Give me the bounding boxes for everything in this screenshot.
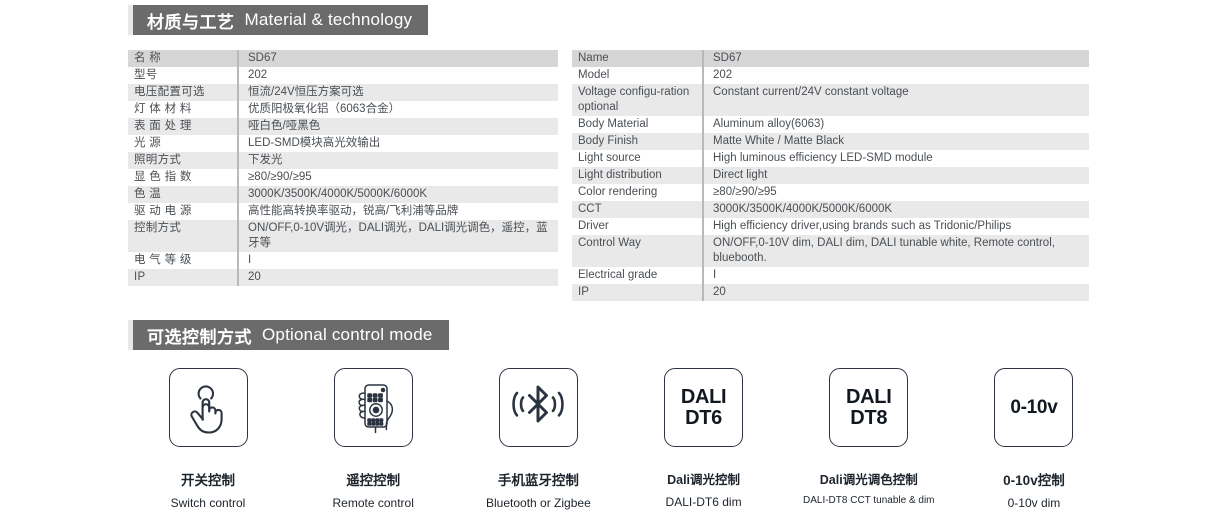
spec-label: IP (128, 269, 238, 286)
dali-dt8-icon[interactable]: DALIDT8 (829, 368, 908, 447)
table-row: CCT3000K/3500K/4000K/5000K/6000K (572, 201, 1089, 218)
spec-table-english: NameSD67Model202Voltage configu-ration o… (572, 50, 1089, 301)
table-row: Control WayON/OFF,0-10V dim, DALI dim, D… (572, 235, 1089, 267)
section-header-control-mode: 可选控制方式 Optional control mode (128, 320, 449, 350)
control-mode-label-en: Remote control (333, 496, 414, 510)
spec-value: ON/OFF,0-10V调光，DALI调光，DALI调光调色，遥控，蓝牙等 (238, 220, 558, 252)
spec-label: 灯 体 材 料 (128, 101, 238, 118)
control-mode-label-en: DALI-DT6 dim (666, 495, 742, 509)
spec-label: 照明方式 (128, 152, 238, 169)
bluetooth-wave-icon[interactable] (499, 368, 578, 447)
control-mode-item[interactable]: 0-10v0-10v控制0-10v dim (954, 368, 1114, 510)
spec-table-chinese: 名 称SD67型号202电压配置可选恒流/24V恒压方案可选灯 体 材 料优质阳… (128, 50, 558, 286)
spec-label: 控制方式 (128, 220, 238, 252)
spec-value: ON/OFF,0-10V dim, DALI dim, DALI tunable… (703, 235, 1089, 267)
table-row: 色 温3000K/3500K/4000K/5000K/6000K (128, 186, 558, 203)
spec-value: 3000K/3500K/4000K/5000K/6000K (703, 201, 1089, 218)
spec-value: SD67 (703, 50, 1089, 67)
icon-glyph-text: 0-10v (1010, 398, 1057, 417)
table-row: Light distributionDirect light (572, 167, 1089, 184)
spec-label: Electrical grade (572, 267, 703, 284)
spec-value: Matte White / Matte Black (703, 133, 1089, 150)
spec-label: Color rendering (572, 184, 703, 201)
icon-glyph-text: DALIDT6 (681, 387, 726, 428)
spec-label: 表 面 处 理 (128, 118, 238, 135)
spec-label: 色 温 (128, 186, 238, 203)
table-row: IP20 (128, 269, 558, 286)
spec-label: 名 称 (128, 50, 238, 67)
table-row: Body FinishMatte White / Matte Black (572, 133, 1089, 150)
table-row: NameSD67 (572, 50, 1089, 67)
section-header-control-mode-en: Optional control mode (262, 325, 433, 345)
table-row: 灯 体 材 料优质阳极氧化铝（6063合金） (128, 101, 558, 118)
spec-value: ≥80/≥90/≥95 (238, 169, 558, 186)
spec-value: 3000K/3500K/4000K/5000K/6000K (238, 186, 558, 203)
table-row: 型号202 (128, 67, 558, 84)
control-mode-label-cn: Dali调光调色控制 (820, 469, 918, 488)
section-header-material-en: Material & technology (245, 10, 413, 30)
spec-value: 202 (703, 67, 1089, 84)
spec-label: Light distribution (572, 167, 703, 184)
spec-value: 优质阳极氧化铝（6063合金） (238, 101, 558, 118)
spec-value: 高性能高转换率驱动，锐高/飞利浦等品牌 (238, 203, 558, 220)
spec-value: Aluminum alloy(6063) (703, 116, 1089, 133)
spec-value: 20 (703, 284, 1089, 301)
control-mode-item[interactable]: DALIDT8Dali调光调色控制DALI-DT8 CCT tunable & … (789, 368, 949, 506)
spec-label: 电压配置可选 (128, 84, 238, 101)
spec-label: Light source (572, 150, 703, 167)
table-row: 表 面 处 理哑白色/哑黑色 (128, 118, 558, 135)
control-mode-label-cn: 遥控控制 (346, 469, 400, 489)
icon-glyph-text: DALIDT8 (846, 387, 891, 428)
spec-value: High luminous efficiency LED-SMD module (703, 150, 1089, 167)
spec-value: Constant current/24V constant voltage (703, 84, 1089, 116)
table-row: 光 源LED-SMD模块高光效输出 (128, 135, 558, 152)
spec-value: 202 (238, 67, 558, 84)
spec-value: High efficiency driver,using brands such… (703, 218, 1089, 235)
zero-to-ten-volt-icon[interactable]: 0-10v (994, 368, 1073, 447)
spec-label: 显 色 指 数 (128, 169, 238, 186)
spec-value: Direct light (703, 167, 1089, 184)
spec-label: Voltage configu-ration optional (572, 84, 703, 116)
spec-value: ≥80/≥90/≥95 (703, 184, 1089, 201)
control-mode-label-en: Switch control (171, 496, 246, 510)
section-header-material-cn: 材质与工艺 (147, 8, 235, 33)
spec-label: Driver (572, 218, 703, 235)
table-row: Electrical gradeI (572, 267, 1089, 284)
spec-label: Body Material (572, 116, 703, 133)
control-mode-label-en: DALI-DT8 CCT tunable & dim (803, 495, 935, 506)
spec-value: 恒流/24V恒压方案可选 (238, 84, 558, 101)
spec-value: I (238, 252, 558, 269)
spec-label: 型号 (128, 67, 238, 84)
section-header-control-mode-cn: 可选控制方式 (147, 323, 252, 348)
spec-label: CCT (572, 201, 703, 218)
table-row: DriverHigh efficiency driver,using brand… (572, 218, 1089, 235)
spec-value: I (703, 267, 1089, 284)
spec-label: Model (572, 67, 703, 84)
control-mode-label-cn: Dali调光控制 (667, 469, 740, 488)
spec-label: IP (572, 284, 703, 301)
table-row: 电压配置可选恒流/24V恒压方案可选 (128, 84, 558, 101)
table-row: IP20 (572, 284, 1089, 301)
table-row: Light sourceHigh luminous efficiency LED… (572, 150, 1089, 167)
spec-value: LED-SMD模块高光效输出 (238, 135, 558, 152)
table-row: 名 称SD67 (128, 50, 558, 67)
spec-table-chinese-body: 名 称SD67型号202电压配置可选恒流/24V恒压方案可选灯 体 材 料优质阳… (128, 50, 558, 286)
table-row: 电 气 等 级I (128, 252, 558, 269)
remote-in-hand-icon[interactable] (334, 368, 413, 447)
table-row: Color rendering≥80/≥90/≥95 (572, 184, 1089, 201)
control-mode-item[interactable]: 手机蓝牙控制Bluetooth or Zigbee (458, 368, 618, 510)
hand-tap-icon[interactable] (169, 368, 248, 447)
control-mode-label-en: 0-10v dim (1008, 496, 1061, 510)
table-row: 控制方式ON/OFF,0-10V调光，DALI调光，DALI调光调色，遥控，蓝牙… (128, 220, 558, 252)
table-row: 显 色 指 数≥80/≥90/≥95 (128, 169, 558, 186)
table-row: Model202 (572, 67, 1089, 84)
table-row: 驱 动 电 源高性能高转换率驱动，锐高/飞利浦等品牌 (128, 203, 558, 220)
control-mode-label-en: Bluetooth or Zigbee (486, 496, 591, 510)
table-row: 照明方式下发光 (128, 152, 558, 169)
spec-value: SD67 (238, 50, 558, 67)
control-mode-label-cn: 0-10v控制 (1003, 469, 1065, 489)
spec-label: 光 源 (128, 135, 238, 152)
control-mode-label-cn: 开关控制 (181, 469, 235, 489)
spec-table-english-body: NameSD67Model202Voltage configu-ration o… (572, 50, 1089, 301)
control-mode-item[interactable]: 遥控控制Remote control (293, 368, 453, 510)
spec-label: 电 气 等 级 (128, 252, 238, 269)
control-mode-item[interactable]: 开关控制Switch control (128, 368, 288, 510)
section-header-material: 材质与工艺 Material & technology (128, 5, 428, 35)
control-mode-item[interactable]: DALIDT6Dali调光控制DALI-DT6 dim (624, 368, 784, 509)
table-row: Voltage configu-ration optionalConstant … (572, 84, 1089, 116)
spec-label: Name (572, 50, 703, 67)
table-row: Body MaterialAluminum alloy(6063) (572, 116, 1089, 133)
control-mode-list: 开关控制Switch control 遥控控制Remote control (128, 368, 1114, 510)
spec-value: 下发光 (238, 152, 558, 169)
spec-label: Control Way (572, 235, 703, 267)
dali-dt6-icon[interactable]: DALIDT6 (664, 368, 743, 447)
spec-value: 20 (238, 269, 558, 286)
spec-label: Body Finish (572, 133, 703, 150)
control-mode-label-cn: 手机蓝牙控制 (498, 469, 579, 489)
spec-value: 哑白色/哑黑色 (238, 118, 558, 135)
spec-label: 驱 动 电 源 (128, 203, 238, 220)
